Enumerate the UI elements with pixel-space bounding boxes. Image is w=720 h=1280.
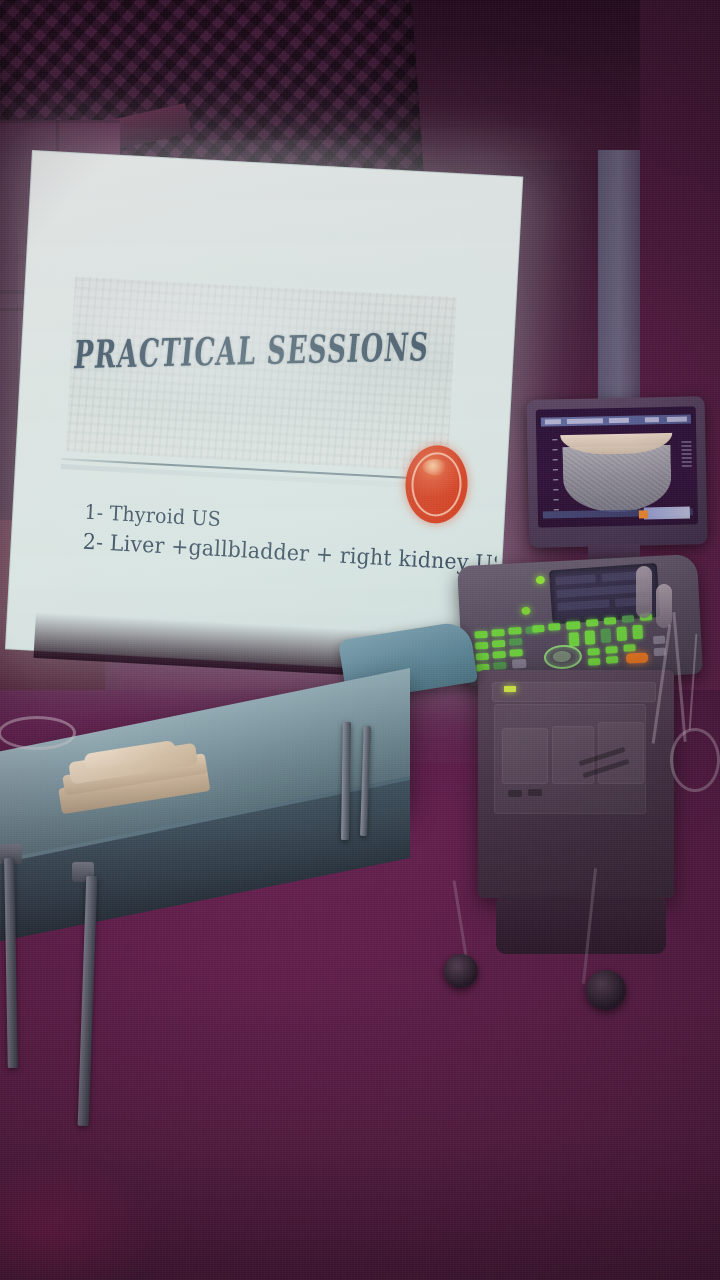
standby-led-icon — [521, 607, 530, 615]
examination-couch — [0, 630, 460, 1150]
photo-scene: PRACTICAL SESSIONS 1- Thyroid US 2- Live… — [0, 0, 720, 1280]
scan-header-bar — [541, 414, 691, 426]
freeze-key[interactable] — [626, 652, 648, 663]
trackball[interactable] — [543, 644, 582, 670]
depth-scale — [552, 435, 559, 513]
probe-holder-left[interactable] — [636, 566, 652, 618]
ultrasound-display — [536, 406, 698, 527]
ultrasound-machine — [438, 398, 720, 1058]
floor-cable-loop — [0, 716, 76, 750]
slide-title: PRACTICAL SESSIONS — [72, 326, 432, 379]
gain-markers — [681, 440, 692, 466]
probe-holder-right[interactable] — [656, 584, 672, 628]
ultrasound-monitor[interactable] — [526, 396, 707, 548]
bmode-scan-image — [560, 433, 674, 513]
tissue-speckle — [562, 445, 671, 513]
caster-wheel-right — [586, 970, 626, 1010]
machine-base — [496, 894, 666, 954]
logo-accent-icon — [639, 510, 648, 518]
probe-cable-coil — [670, 728, 720, 792]
power-led-icon — [536, 576, 545, 584]
floor-light-spill — [0, 1140, 230, 1280]
manufacturer-logo — [644, 506, 690, 519]
machine-body — [478, 670, 674, 898]
